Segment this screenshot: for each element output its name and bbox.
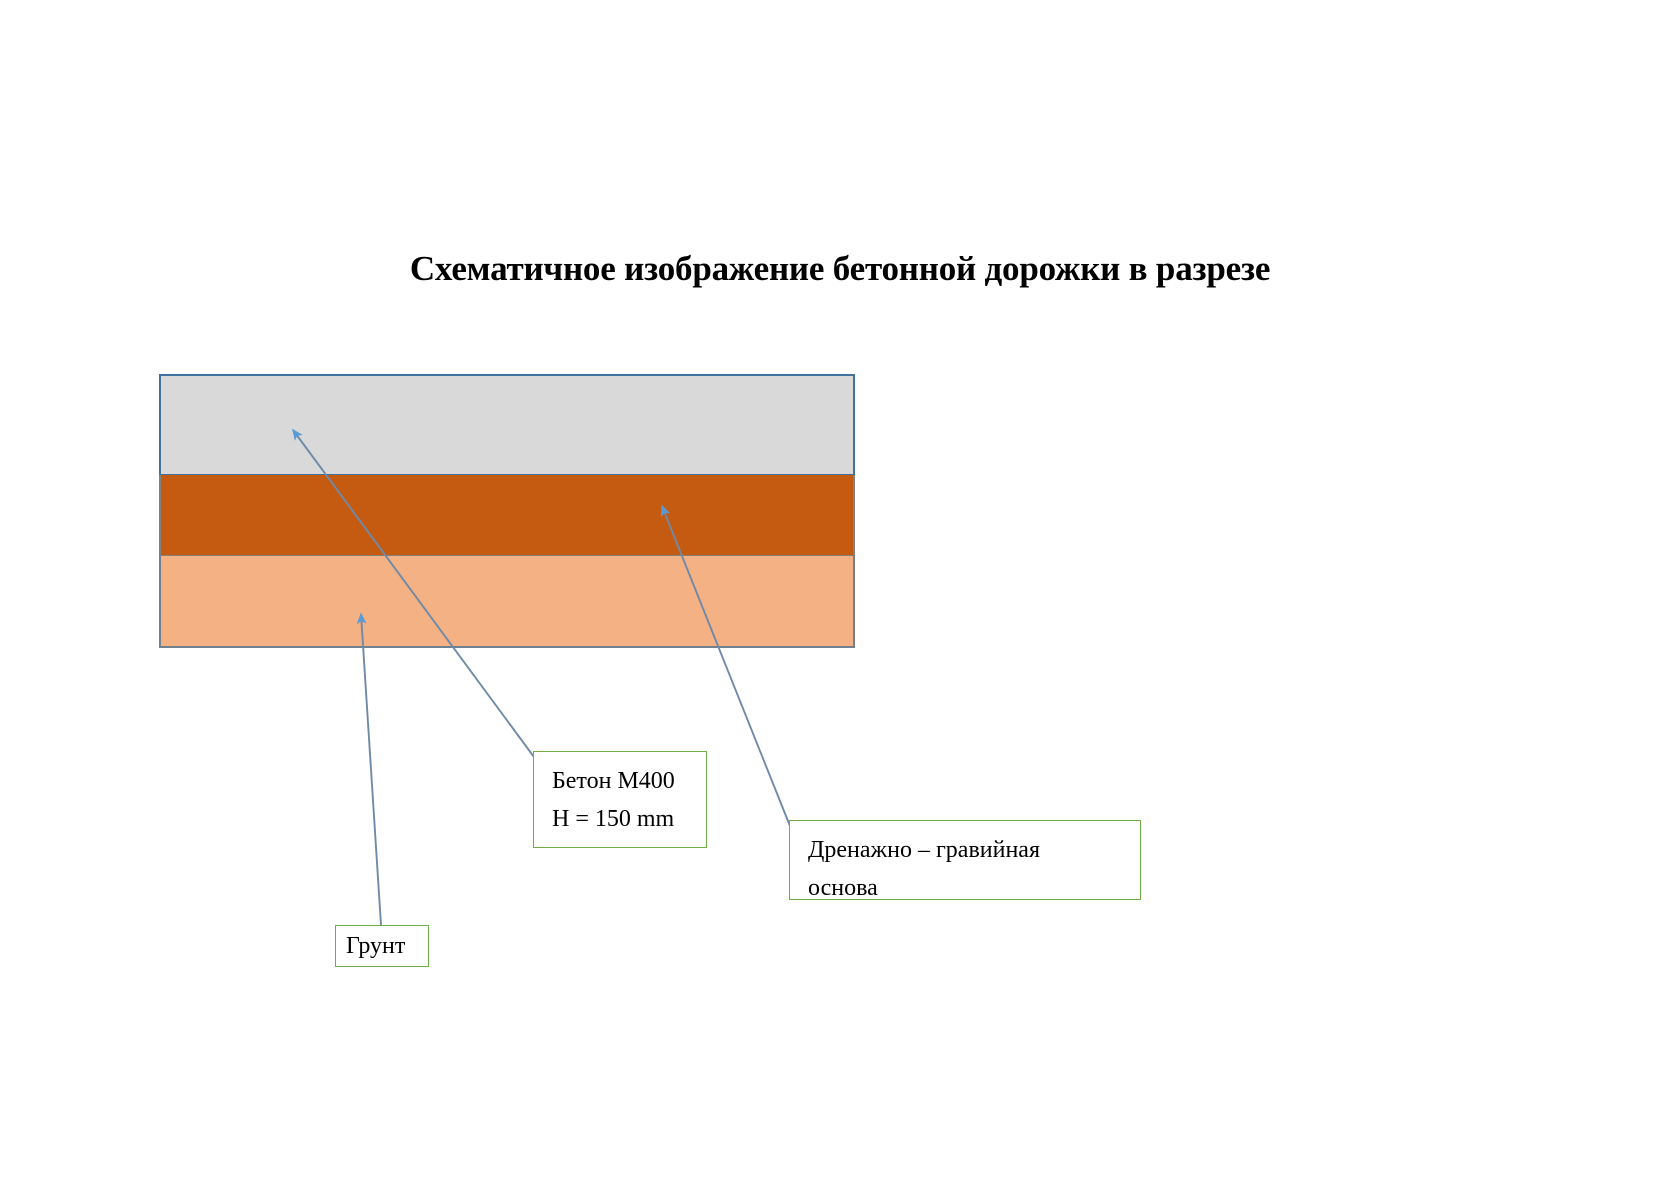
callout-gravel[interactable]: Дренажно – гравийная основа (789, 820, 1141, 900)
callout-soil-line1: Грунт (346, 930, 418, 963)
leader-line-soil (361, 614, 381, 925)
callout-concrete[interactable]: Бетон М400 H = 150 mm (533, 751, 707, 848)
page-title: Схематичное изображение бетонной дорожки… (0, 247, 1680, 291)
slide-canvas: Схематичное изображение бетонной дорожки… (0, 0, 1680, 1187)
callout-soil[interactable]: Грунт (335, 925, 429, 967)
cross-section-diagram (159, 374, 855, 648)
callout-gravel-line1: Дренажно – гравийная (808, 831, 1126, 869)
layer-concrete (159, 374, 855, 476)
layer-soil (159, 556, 855, 648)
layer-gravel (159, 475, 855, 557)
callout-gravel-line2: основа (808, 869, 1126, 907)
callout-concrete-line1: Бетон М400 (552, 762, 692, 800)
callout-concrete-line2: H = 150 mm (552, 800, 692, 838)
